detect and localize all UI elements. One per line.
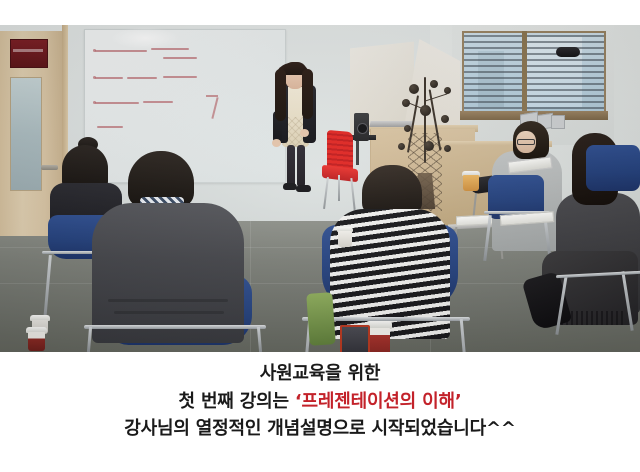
instructor-hair-right	[302, 69, 313, 119]
tree-ornament	[398, 143, 405, 150]
caption-line-2: 첫 번째 강의는 ‘프레젠테이션의 이해’	[0, 388, 640, 416]
green-bag	[306, 292, 336, 346]
tree-ornament	[404, 125, 411, 132]
tree-ornament	[430, 80, 438, 88]
tree-ornament	[441, 115, 449, 123]
classroom-photo	[0, 25, 640, 352]
speaker-driver	[357, 123, 368, 134]
glasses-icon	[517, 139, 535, 145]
door-handle	[41, 165, 58, 170]
blue-chair-back	[586, 145, 640, 191]
side-desk-leg	[356, 139, 359, 165]
instructor-hand-right	[300, 129, 309, 137]
tree-ornament	[420, 105, 431, 116]
door-sign	[10, 39, 48, 68]
window	[462, 31, 606, 117]
door-glass-panel	[10, 77, 42, 191]
blog-post-image: 사원교육을 위한 첫 번째 강의는 ‘프레젠테이션의 이해’ 강사님의 열정적인…	[0, 0, 640, 472]
whiteboard-arrow-head-icon	[206, 95, 218, 97]
attendee-gray-body	[92, 203, 244, 343]
instructor-leg-left	[287, 145, 295, 187]
instructor-shoe-right	[296, 185, 311, 192]
caption-line-1: 사원교육을 위한	[0, 360, 640, 388]
tablet-device	[340, 325, 370, 352]
caption-line-2-highlight: ‘프레젠테이션의 이해’	[295, 391, 462, 412]
instructor-shoe-left	[283, 183, 297, 190]
tree-ornament	[402, 99, 410, 107]
door-sign-text	[13, 49, 43, 52]
whiteboard-glare	[110, 27, 180, 49]
instructor-leg-right	[297, 145, 305, 187]
attendee-shoe	[556, 47, 580, 57]
book	[551, 115, 565, 129]
tree-ornament	[444, 87, 451, 94]
caption-block: 사원교육을 위한 첫 번째 강의는 ‘프레젠테이션의 이해’ 강사님의 열정적인…	[0, 360, 640, 443]
blue-chair-rail	[84, 325, 266, 329]
instructor-hair-left	[275, 69, 286, 121]
tree-ornament	[409, 84, 419, 94]
instructor-hand-left	[272, 139, 281, 147]
red-chair-leg	[338, 175, 340, 201]
window-mullion	[522, 31, 527, 113]
tree-ornament	[424, 141, 434, 151]
attendee-striped-hair	[362, 165, 422, 215]
tree-ornament	[444, 145, 451, 152]
caption-line-2-prefix: 첫 번째 강의는	[179, 391, 295, 412]
caption-line-3: 강사님의 열정적인 개념설명으로 시작되었습니다^^	[0, 415, 640, 443]
